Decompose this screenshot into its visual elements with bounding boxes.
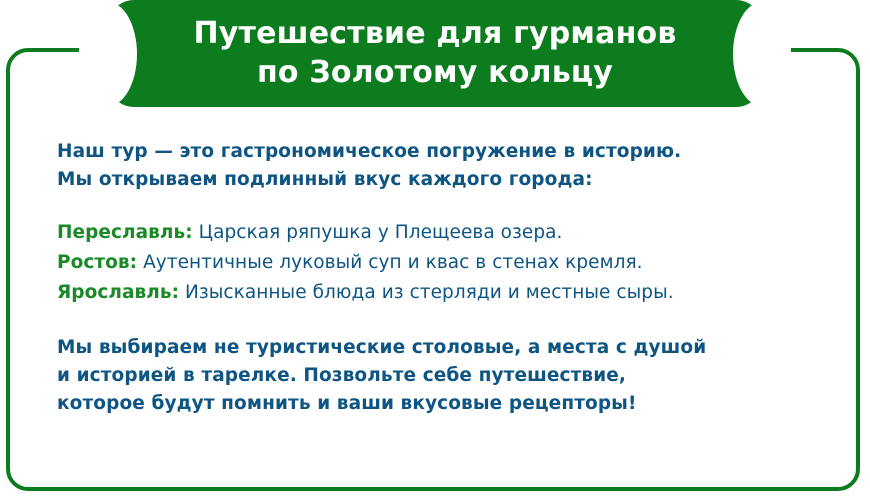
city-name-yaroslavl: Ярославль: (57, 282, 179, 303)
intro-line-1: Наш тур — это гастрономическое погружени… (57, 138, 847, 166)
closing-line-1: Мы выбираем не туристические столовые, а… (57, 334, 847, 362)
city-name-rostov: Ростов: (57, 252, 137, 273)
list-item: Переславль: Царская ряпушка у Плещеева о… (57, 218, 847, 248)
page-title: Путешествие для гурманов по Золотому кол… (108, 0, 762, 107)
closing-line-2: и историей в тарелке. Позвольте себе пут… (57, 362, 847, 390)
intro-line-2: Мы открываем подлинный вкус каждого горо… (57, 166, 847, 194)
title-ribbon: Путешествие для гурманов по Золотому кол… (108, 0, 762, 107)
card-content: Наш тур — это гастрономическое погружени… (57, 138, 847, 418)
city-description-yaroslavl: Изысканные блюда из стерляди и местные с… (185, 282, 674, 303)
city-name-pereslavl: Переславль: (57, 222, 193, 243)
page-title-line-2: по Золотому кольцу (257, 54, 613, 92)
intro-paragraph: Наш тур — это гастрономическое погружени… (57, 138, 847, 194)
list-item: Ярославль: Изысканные блюда из стерляди … (57, 278, 847, 308)
city-description-rostov: Аутентичные луковый суп и квас в стенах … (143, 252, 643, 273)
list-item: Ростов: Аутентичные луковый суп и квас в… (57, 248, 847, 278)
city-description-pereslavl: Царская ряпушка у Плещеева озера. (199, 222, 563, 243)
page-title-line-1: Путешествие для гурманов (193, 15, 676, 53)
promo-card-root: Путешествие для гурманов по Золотому кол… (0, 0, 870, 501)
closing-line-3: которое будут помнить и ваши вкусовые ре… (57, 390, 847, 418)
city-highlight-list: Переславль: Царская ряпушка у Плещеева о… (57, 218, 847, 308)
closing-paragraph: Мы выбираем не туристические столовые, а… (57, 334, 847, 418)
